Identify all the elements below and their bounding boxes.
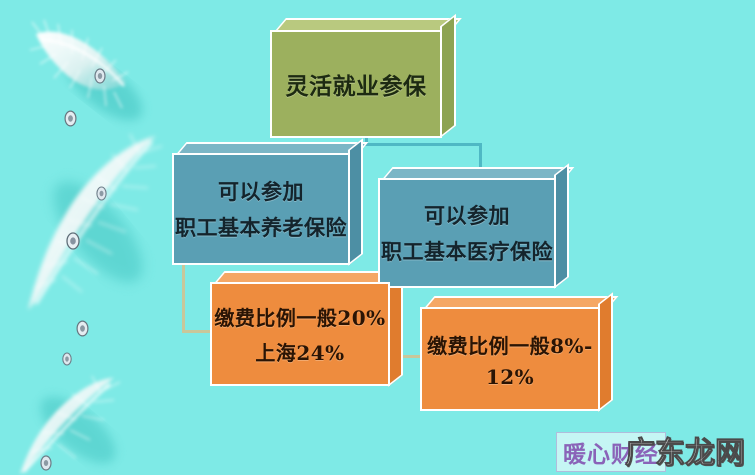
node-pension-rate-face: 缴费比例一般20% 上海24% [210, 282, 390, 386]
node-root-label-1: 灵活就业参保 [286, 67, 427, 101]
diagram-canvas: 灵活就业参保 可以参加 职工基本养老保险 可以参加 职工基本医疗保险 缴费比例一… [0, 0, 755, 475]
node-pension[interactable]: 可以参加 职工基本养老保险 [172, 153, 350, 265]
connector-pension-vertical [182, 265, 185, 333]
node-pension-face: 可以参加 职工基本养老保险 [172, 153, 350, 265]
node-pension-label-1: 可以参加 [218, 176, 304, 206]
bead-4-icon [66, 232, 80, 254]
node-medical-face: 可以参加 职工基本医疗保险 [378, 178, 556, 288]
node-root-side-face [440, 14, 456, 139]
node-pension-rate-label-1: 缴费比例一般20% [214, 302, 385, 331]
bead-1-icon [94, 68, 106, 88]
bead-6-icon [62, 351, 72, 370]
node-medical-rate[interactable]: 缴费比例一般8%- 12% [420, 307, 600, 411]
node-medical[interactable]: 可以参加 职工基本医疗保险 [378, 178, 556, 288]
bead-2-icon [64, 110, 77, 131]
feather-mid-left-icon [6, 128, 186, 313]
node-root-face: 灵活就业参保 [270, 30, 442, 138]
node-pension-rate[interactable]: 缴费比例一般20% 上海24% [210, 282, 390, 386]
node-medical-rate-label-1: 缴费比例一般8%- [427, 330, 593, 359]
feather-top-left-icon [18, 10, 168, 145]
node-medical-label-1: 可以参加 [424, 200, 510, 230]
node-medical-rate-side-face [598, 292, 613, 412]
node-medical-side-face [554, 163, 569, 289]
watermark-secondary: 广东龙网 [625, 428, 745, 472]
node-pension-label-2: 职工基本养老保险 [175, 212, 347, 242]
node-medical-rate-face: 缴费比例一般8%- 12% [420, 307, 600, 411]
bead-7-icon [40, 455, 52, 475]
node-medical-rate-label-2: 12% [486, 365, 534, 389]
node-root[interactable]: 灵活就业参保 [270, 30, 442, 138]
bead-5-icon [76, 320, 89, 341]
node-medical-label-2: 职工基本医疗保险 [381, 236, 553, 266]
watermark-primary: 暖心财经 [556, 432, 666, 472]
node-pension-side-face [348, 138, 363, 266]
feather-bottom-left-icon [8, 372, 143, 475]
bead-3-icon [96, 186, 107, 205]
node-pension-rate-label-2: 上海24% [255, 337, 344, 366]
